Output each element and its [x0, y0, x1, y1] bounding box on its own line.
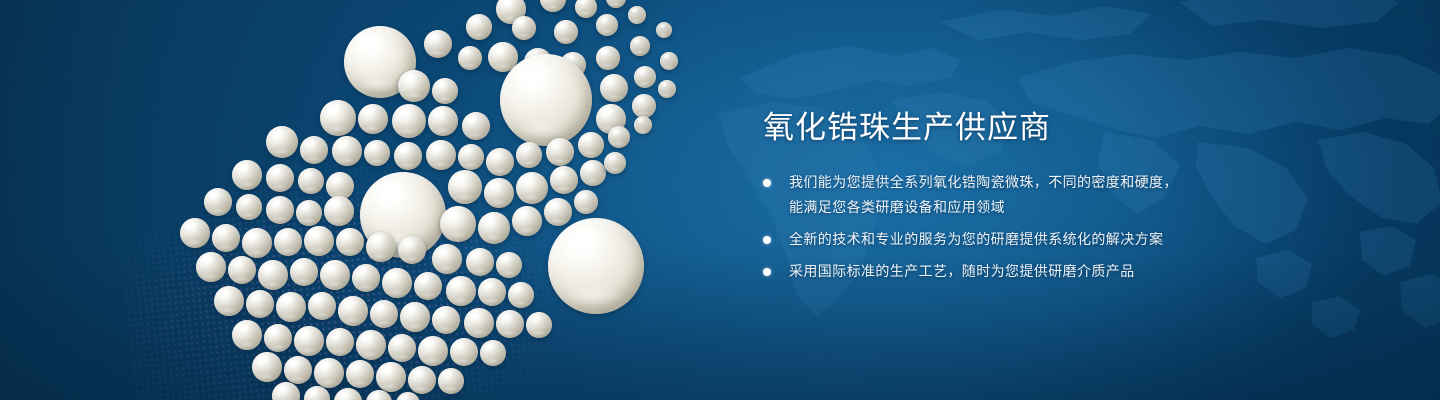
ceramic-bead — [290, 258, 318, 286]
ceramic-bead — [634, 66, 656, 88]
ceramic-bead — [352, 264, 380, 292]
ceramic-bead — [382, 268, 412, 298]
ceramic-bead — [450, 338, 478, 366]
ceramic-bead — [575, 0, 597, 18]
ceramic-bead — [424, 30, 452, 58]
ceramic-bead — [264, 324, 292, 352]
ceramic-bead — [338, 296, 368, 326]
ceramic-bead — [388, 334, 416, 362]
ceramic-bead — [298, 168, 324, 194]
feature-bullet-item: 我们能为您提供全系列氧化锆陶瓷微珠，不同的密度和硬度，能满足您各类研磨设备和应用… — [763, 170, 1283, 220]
ceramic-bead — [496, 310, 524, 338]
ceramic-bead — [204, 188, 232, 216]
ceramic-bead — [478, 278, 506, 306]
ceramic-bead — [258, 260, 288, 290]
ceramic-bead — [458, 144, 484, 170]
ceramic-bead — [400, 302, 430, 332]
ceramic-bead — [266, 196, 294, 224]
ceramic-bead — [356, 330, 386, 360]
ceramic-bead — [232, 160, 262, 190]
ceramic-bead — [546, 138, 574, 166]
ceramic-bead — [634, 116, 652, 134]
ceramic-bead — [658, 80, 676, 98]
ceramic-bead — [578, 132, 604, 158]
ceramic-bead — [314, 358, 344, 388]
ceramic-bead — [596, 14, 618, 36]
ceramic-bead — [414, 272, 442, 300]
ceramic-bead — [332, 136, 362, 166]
ceramic-bead — [548, 218, 644, 314]
ceramic-bead — [448, 170, 482, 204]
ceramic-bead — [296, 200, 322, 226]
ceramic-bead — [526, 312, 552, 338]
ceramic-bead — [606, 0, 626, 8]
ceramic-bead — [660, 52, 678, 70]
ceramic-bead — [376, 362, 406, 392]
ceramic-bead — [214, 286, 244, 316]
ceramic-bead — [320, 260, 350, 290]
ceramic-bead — [242, 228, 272, 258]
ceramic-bead — [308, 292, 336, 320]
ceramic-bead — [284, 356, 312, 384]
feature-bullet-list: 我们能为您提供全系列氧化锆陶瓷微珠，不同的密度和硬度，能满足您各类研磨设备和应用… — [763, 170, 1283, 284]
ceramic-bead — [486, 148, 514, 176]
bullet-dot-icon — [763, 236, 771, 244]
ceramic-bead — [326, 328, 354, 356]
ceramic-bead — [300, 136, 328, 164]
ceramic-bead — [550, 166, 578, 194]
ceramic-bead — [252, 352, 282, 382]
ceramic-bead — [512, 206, 542, 236]
ceramic-bead — [608, 126, 630, 148]
ceramic-bead — [464, 308, 494, 338]
ceramic-bead — [446, 276, 476, 306]
ceramic-bead — [304, 386, 330, 400]
ceramic-bead — [394, 142, 422, 170]
ceramic-bead — [246, 290, 274, 318]
ceramic-bead — [432, 244, 462, 274]
ceramic-bead — [432, 306, 460, 334]
ceramic-bead — [596, 46, 620, 70]
ceramic-bead — [508, 282, 534, 308]
ceramic-bead — [408, 366, 436, 394]
ceramic-bead — [484, 178, 514, 208]
feature-bullet-text: 全新的技术和专业的服务为您的研磨提供系统化的解决方案 — [789, 231, 1163, 247]
ceramic-bead — [630, 36, 650, 56]
ceramic-bead — [272, 382, 300, 400]
ceramic-bead — [458, 46, 482, 70]
ceramic-bead — [466, 14, 492, 40]
ceramic-bead — [358, 104, 388, 134]
bullet-dot-icon — [763, 268, 771, 276]
ceramic-bead — [426, 140, 456, 170]
ceramic-bead — [180, 218, 210, 248]
ceramic-bead — [516, 142, 542, 168]
feature-bullet-text: 我们能为您提供全系列氧化锆陶瓷微珠，不同的密度和硬度， — [789, 174, 1178, 190]
page-title: 氧化锆珠生产供应商 — [763, 108, 1283, 148]
ceramic-bead — [480, 340, 506, 366]
ceramic-bead — [512, 16, 536, 40]
ceramic-bead — [418, 336, 448, 366]
feature-bullet-item: 采用国际标准的生产工艺，随时为您提供研磨介质产品 — [763, 259, 1283, 284]
banner-copy-block: 氧化锆珠生产供应商 我们能为您提供全系列氧化锆陶瓷微珠，不同的密度和硬度，能满足… — [763, 108, 1283, 291]
ceramic-bead — [276, 292, 306, 322]
ceramic-bead — [370, 300, 398, 328]
ceramic-bead — [500, 54, 592, 146]
ceramic-bead — [266, 126, 298, 158]
ceramic-bead — [324, 196, 354, 226]
ceramic-bead — [212, 224, 240, 252]
ceramic-bead — [540, 0, 566, 12]
ceramic-bead — [574, 190, 598, 214]
ceramic-bead — [398, 70, 430, 102]
ceramic-bead — [274, 228, 302, 256]
ceramic-bead — [398, 236, 426, 264]
ceramic-bead — [320, 100, 356, 136]
ceramic-bead — [604, 152, 626, 174]
ceramic-bead — [438, 368, 464, 394]
feature-bullet-item: 全新的技术和专业的服务为您的研磨提供系统化的解决方案 — [763, 227, 1283, 252]
feature-bullet-text: 采用国际标准的生产工艺，随时为您提供研磨介质产品 — [789, 263, 1135, 279]
ceramic-bead — [516, 172, 548, 204]
ceramic-bead — [366, 232, 396, 262]
ceramic-bead-cluster-image — [0, 0, 760, 400]
ceramic-bead — [196, 252, 226, 282]
hero-banner: 氧化锆珠生产供应商 我们能为您提供全系列氧化锆陶瓷微珠，不同的密度和硬度，能满足… — [0, 0, 1440, 400]
ceramic-bead — [466, 248, 494, 276]
ceramic-bead — [656, 22, 672, 38]
ceramic-bead — [462, 112, 490, 140]
ceramic-bead — [266, 164, 294, 192]
bullet-dot-icon — [763, 179, 771, 187]
ceramic-bead — [232, 320, 262, 350]
ceramic-bead — [440, 206, 476, 242]
ceramic-bead — [478, 212, 510, 244]
ceramic-bead — [346, 360, 374, 388]
ceramic-bead — [580, 160, 606, 186]
ceramic-bead — [496, 252, 522, 278]
ceramic-bead — [432, 78, 458, 104]
ceramic-bead — [554, 20, 578, 44]
ceramic-bead — [228, 256, 256, 284]
ceramic-bead — [544, 198, 572, 226]
ceramic-bead — [628, 6, 646, 24]
ceramic-bead — [304, 226, 334, 256]
ceramic-bead — [294, 326, 324, 356]
feature-bullet-text-line2: 能满足您各类研磨设备和应用领域 — [789, 195, 1283, 220]
ceramic-bead — [392, 104, 426, 138]
ceramic-bead — [336, 228, 364, 256]
ceramic-bead — [600, 74, 628, 102]
ceramic-bead — [428, 106, 458, 136]
ceramic-bead — [632, 94, 656, 118]
ceramic-bead — [364, 140, 390, 166]
ceramic-bead — [334, 388, 362, 400]
ceramic-bead — [236, 194, 262, 220]
